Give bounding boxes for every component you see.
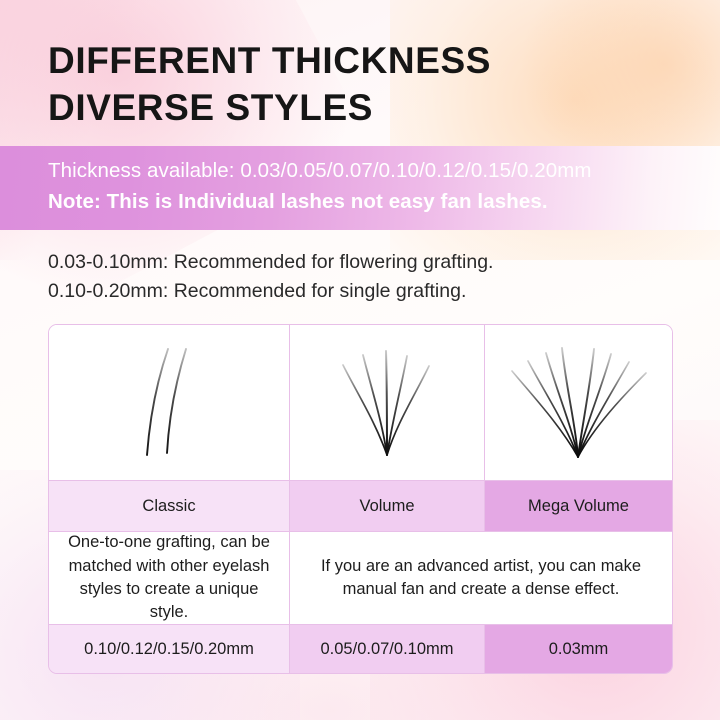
thickness-spec-volume: 0.05/0.07/0.10mm [290,625,485,673]
thickness-banner: Thickness available: 0.03/0.05/0.07/0.10… [0,146,720,230]
thickness-spec-mega-volume: 0.03mm [485,625,672,673]
volume-lash-fan-illustration [327,343,447,463]
table-row-thickness-specs: 0.10/0.12/0.15/0.20mm 0.05/0.07/0.10mm 0… [49,624,672,673]
thickness-banner-content: Thickness available: 0.03/0.05/0.07/0.10… [48,155,698,217]
page-title-line-2: DIVERSE STYLES [48,85,668,132]
classic-lash-illustration [124,343,214,463]
page-title-line-1: DIFFERENT THICKNESS [48,40,491,81]
volume-lash-illustration-cell [290,325,485,480]
recommendation-list: 0.03-0.10mm: Recommended for flowering g… [48,248,688,307]
recommendation-single-grafting: 0.10-0.20mm: Recommended for single graf… [48,277,688,306]
table-row-illustrations [49,325,672,480]
thickness-available-label: Thickness available: 0.03/0.05/0.07/0.10… [48,155,698,186]
mega-volume-lash-illustration-cell [485,325,672,480]
mega-volume-lash-fan-illustration [504,343,654,463]
style-label-classic: Classic [49,481,290,531]
classic-description: One-to-one grafting, can be matched with… [49,532,290,624]
table-row-descriptions: One-to-one grafting, can be matched with… [49,531,672,624]
page-title: DIFFERENT THICKNESS DIVERSE STYLES [48,38,668,131]
classic-lash-illustration-cell [49,325,290,480]
volume-mega-description: If you are an advanced artist, you can m… [290,532,672,624]
style-label-mega-volume: Mega Volume [485,481,672,531]
table-row-style-labels: Classic Volume Mega Volume [49,480,672,531]
individual-lashes-note: Note: This is Individual lashes not easy… [48,186,698,217]
thickness-spec-classic: 0.10/0.12/0.15/0.20mm [49,625,290,673]
recommendation-flowering-grafting: 0.03-0.10mm: Recommended for flowering g… [48,248,688,277]
style-label-volume: Volume [290,481,485,531]
lash-style-comparison-table: Classic Volume Mega Volume One-to-one gr… [48,324,673,674]
